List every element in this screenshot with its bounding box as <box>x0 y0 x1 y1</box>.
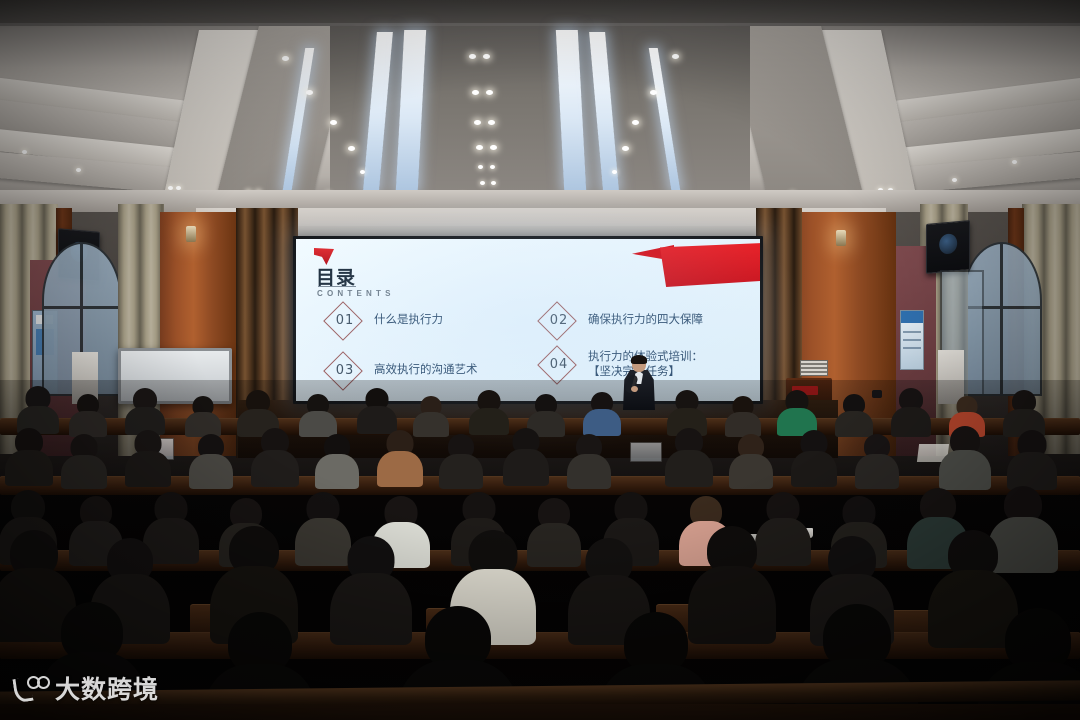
diamond-badge-02: 02 <box>536 305 582 335</box>
attendee <box>666 428 712 486</box>
ceiling-top-band <box>0 0 1080 26</box>
watermark-text: 大数跨境 <box>55 670 159 706</box>
item-label: 什么是执行力 <box>374 312 443 327</box>
attendee <box>940 426 990 488</box>
audience-area <box>0 380 1080 720</box>
ceiling <box>0 0 1080 200</box>
attendee <box>190 434 232 488</box>
item-label: 高效执行的沟通艺术 <box>374 362 478 377</box>
laptop <box>630 442 662 462</box>
slide-contents-page: 目录 CONTENTS 01 什么是执行力 02 确保执行力的四大保障 <box>296 239 760 401</box>
attendee <box>358 388 396 434</box>
attendee <box>836 394 872 436</box>
attendee <box>70 394 106 436</box>
attendee <box>470 390 508 434</box>
watermark: 大数跨境 <box>14 670 159 706</box>
attendee <box>792 430 836 486</box>
attendee <box>892 388 930 436</box>
attendee <box>856 434 898 488</box>
attendee <box>726 396 760 436</box>
attendee <box>126 430 170 486</box>
attendee <box>18 386 58 432</box>
contents-item-01[interactable]: 01 什么是执行力 <box>322 305 443 335</box>
attendee <box>440 434 482 488</box>
attendee <box>378 430 422 486</box>
title-underline <box>318 286 356 287</box>
item-label: 确保执行力的四大保障 <box>588 312 703 327</box>
conference-hall-screenshot: 目录 CONTENTS 01 什么是执行力 02 确保执行力的四大保障 <box>0 0 1080 720</box>
item-number: 01 <box>322 305 368 335</box>
poster-right <box>900 310 924 370</box>
red-ribbon-graphic <box>632 239 760 291</box>
attendee <box>730 434 772 488</box>
wall-lamp-left <box>186 226 196 242</box>
attendee <box>126 388 164 434</box>
ac-vent-right <box>800 360 828 376</box>
wall-speaker-right <box>926 220 970 274</box>
ceiling-center-trough <box>330 26 750 200</box>
attendee <box>62 434 106 488</box>
attendee <box>568 434 610 488</box>
attendee <box>332 536 410 642</box>
presentation-screen[interactable]: 目录 CONTENTS 01 什么是执行力 02 确保执行力的四大保障 <box>293 236 763 404</box>
diamond-badge-01: 01 <box>322 305 368 335</box>
attendee <box>504 428 548 486</box>
logo-mark-icon <box>14 675 48 701</box>
attendee <box>252 428 298 486</box>
diamond-badge-04: 04 <box>536 349 582 379</box>
attendee <box>316 434 358 488</box>
item-number: 02 <box>536 305 582 335</box>
front-desk-face <box>0 704 1080 720</box>
slide-subtitle: CONTENTS <box>317 289 395 298</box>
presenter-speaker <box>619 356 659 408</box>
wall-lamp-right <box>836 230 846 246</box>
attendee <box>584 392 620 436</box>
contents-item-02[interactable]: 02 确保执行力的四大保障 <box>536 305 703 335</box>
attendee <box>1008 430 1056 488</box>
attendee <box>186 396 220 436</box>
item-number: 04 <box>536 349 582 379</box>
attendee <box>300 394 336 436</box>
attendee <box>6 428 52 484</box>
